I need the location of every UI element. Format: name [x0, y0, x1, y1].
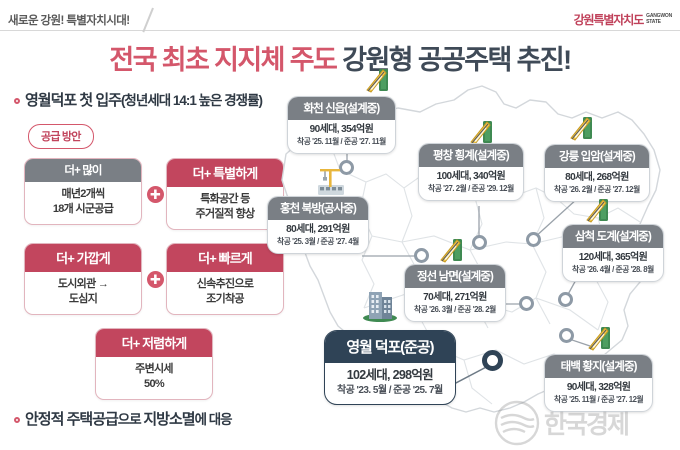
bullet-dot-icon [14, 98, 20, 104]
callout-pyeongchang-title: 평창 횡계(설계중) [419, 144, 523, 167]
supply-card-cheaper-body: 주변시세 50% [96, 357, 212, 399]
supply-card-closer: 더+ 가깝게 도시외관 → 도심지 [24, 243, 142, 315]
callout-hwacheon-body: 90세대, 354억원 착공 '25. 11월 / 준공 '27. 11월 [288, 120, 395, 153]
callout-yeongwol-title: 영월 덕포(준공) [325, 331, 455, 363]
callout-yeongwol[interactable]: 영월 덕포(준공) 102세대, 298억원 착공 '23. 5월 / 준공 '… [324, 330, 456, 405]
supply-card-closer-line1: 도시외관 → [27, 277, 139, 292]
callout-hwacheon[interactable]: 화천 신읍(설계중) 90세대, 354억원 착공 '25. 11월 / 준공 … [287, 96, 396, 154]
design-ruler-icon [364, 66, 394, 96]
supply-card-more: 더+ 많이 매년2개씩 18개 시군공급 [24, 158, 142, 225]
supply-card-faster-line2: 조기착공 [169, 292, 281, 307]
map-marker-taebaek[interactable] [559, 328, 574, 343]
closing-normal-a: 으로 [118, 412, 144, 427]
callout-yeongwol-units: 102세대, 298억원 [337, 367, 443, 383]
supply-card-faster-body: 신속추진으로 조기착공 [167, 272, 283, 314]
supply-card-cheaper: 더+ 저렴하게 주변시세 50% [95, 328, 213, 400]
header-tagline: 새로운 강원! 특별자치시대! [8, 12, 129, 28]
callout-gangneung-title: 강릉 입암(설계중) [545, 145, 649, 168]
callout-jeongseon-body: 70세대, 271억원 착공 '26. 3월 / 준공 '28. 2월 [405, 288, 505, 321]
supply-card-cheaper-line1: 주변시세 [98, 362, 210, 377]
closing-bullet-text: 안정적 주택공급으로 지방소멸에 대응 [25, 408, 232, 429]
design-ruler-icon [568, 114, 598, 144]
supply-card-faster-head: 더+ 빠르게 [167, 244, 283, 272]
map-marker-samcheok[interactable] [558, 292, 573, 307]
supply-card-more-body: 매년2개씩 18개 시군공급 [25, 182, 141, 224]
callout-taebaek-title: 태백 황지(설계중) [545, 355, 652, 378]
callout-samcheok-body: 120세대, 365억원 착공 '26. 4월 / 준공 '28. 8월 [563, 248, 663, 281]
supply-card-more-line1: 매년2개씩 [27, 187, 139, 202]
map-marker-gangneung[interactable] [526, 232, 541, 247]
closing-strong-a: 안정적 주택공급 [25, 411, 118, 428]
design-ruler-icon [584, 196, 614, 226]
lead-strong: 영월덕포 첫 입주 [25, 92, 121, 109]
callout-taebaek-units: 90세대, 328억원 [554, 381, 643, 394]
callout-hongcheon-title: 홍천 북방(공사중) [268, 197, 368, 220]
callout-gangneung-units: 80세대, 268억원 [554, 171, 640, 184]
supply-card-more-head: 더+ 많이 [25, 159, 141, 182]
design-ruler-icon [438, 236, 468, 266]
logo-english-line2: STATE [646, 19, 661, 25]
callout-yeongwol-body: 102세대, 298억원 착공 '23. 5월 / 준공 '25. 7월 [325, 363, 455, 404]
callout-taebaek[interactable]: 태백 황지(설계중) 90세대, 328억원 착공 '25. 11월 / 준공 … [544, 354, 653, 412]
supply-card-closer-body: 도시외관 → 도심지 [25, 272, 141, 314]
supply-card-more-line2: 18개 시군공급 [27, 202, 139, 217]
callout-pyeongchang-body: 100세대, 340억원 착공 '27. 2월 / 준공 '29. 12월 [419, 167, 523, 200]
supply-card-cheaper-head: 더+ 저렴하게 [96, 329, 212, 357]
supply-card-closer-head: 더+ 가깝게 [25, 244, 141, 272]
callout-pyeongchang-schedule: 착공 '27. 2월 / 준공 '29. 12월 [428, 184, 514, 195]
callout-hongcheon-schedule: 착공 '25. 3월 / 준공 '27. 4월 [277, 237, 359, 248]
map-marker-jeongseon[interactable] [519, 296, 534, 311]
supply-card-cheaper-line2: 50% [98, 377, 210, 392]
callout-gangneung[interactable]: 강릉 입암(설계중) 80세대, 268억원 착공 '26. 2월 / 준공 '… [544, 144, 650, 202]
lead-bullet-line: 영월덕포 첫 입주(청년세대 14:1 높은 경쟁률) [14, 89, 262, 110]
page-title-highlight: 전국 최초 지지체 주도 [109, 45, 336, 75]
callout-hongcheon-body: 80세대, 291억원 착공 '25. 3월 / 준공 '27. 4월 [268, 220, 368, 253]
plus-icon-row1: ✚ [147, 186, 164, 203]
crane-icon [316, 166, 346, 196]
lead-bullet-text: 영월덕포 첫 입주(청년세대 14:1 높은 경쟁률) [25, 89, 262, 110]
callout-pyeongchang-units: 100세대, 340억원 [428, 170, 514, 183]
map-marker-hongcheon[interactable] [414, 248, 429, 263]
building-icon [360, 283, 400, 323]
page-title: 전국 최초 지지체 주도 강원형 공공주택 추진! [0, 38, 680, 77]
supply-card-faster: 더+ 빠르게 신속추진으로 조기착공 [166, 243, 284, 315]
supply-card-special-body: 특화공간 등 주거질적 향상 [167, 187, 283, 229]
header-divider [0, 30, 680, 31]
callout-jeongseon[interactable]: 정선 남면(설계중) 70세대, 271억원 착공 '26. 3월 / 준공 '… [404, 264, 506, 322]
gangwon-map: 화천 신읍(설계중) 90세대, 354억원 착공 '25. 11월 / 준공 … [268, 78, 680, 450]
callout-samcheok-units: 120세대, 365억원 [572, 251, 654, 264]
callout-taebaek-body: 90세대, 328억원 착공 '25. 11월 / 준공 '27. 12월 [545, 378, 652, 411]
plus-icon-row2: ✚ [147, 271, 164, 288]
supply-card-special-head: 더+ 특별하게 [167, 159, 283, 187]
gangwon-logo: 강원특별자치도 GANGWON STATE [574, 11, 672, 28]
callout-hwacheon-units: 90세대, 354억원 [297, 123, 386, 136]
infographic-page: 새로운 강원! 특별자치시대! 강원특별자치도 GANGWON STATE 전국… [0, 0, 680, 450]
callout-hongcheon[interactable]: 홍천 북방(공사중) 80세대, 291억원 착공 '25. 3월 / 준공 '… [267, 196, 369, 254]
callout-hwacheon-title: 화천 신읍(설계중) [288, 97, 395, 120]
closing-normal-b: 에 대응 [195, 412, 232, 427]
logo-english-text: GANGWON STATE [646, 14, 672, 26]
callout-taebaek-schedule: 착공 '25. 11월 / 준공 '27. 12월 [554, 395, 643, 406]
callout-yeongwol-schedule: 착공 '23. 5월 / 준공 '25. 7월 [337, 384, 443, 398]
connector-line-pyeongchang [476, 206, 482, 238]
callout-hwacheon-schedule: 착공 '25. 11월 / 준공 '27. 11월 [297, 137, 386, 148]
callout-jeongseon-title: 정선 남면(설계중) [405, 265, 505, 288]
supply-card-closer-line2: 도심지 [27, 292, 139, 307]
closing-bullet-line: 안정적 주택공급으로 지방소멸에 대응 [14, 408, 232, 429]
connector-line-hongcheon [362, 253, 420, 259]
bullet-dot-icon [14, 417, 20, 423]
supply-method-chip: 공급 방안 [28, 124, 94, 149]
supply-card-special-line2: 주거질적 향상 [169, 207, 281, 222]
supply-card-special-line1: 특화공간 등 [169, 192, 281, 207]
header-slash-decoration [142, 8, 154, 33]
supply-card-faster-line1: 신속추진으로 [169, 277, 281, 292]
logo-korean-text: 강원특별자치도 [574, 11, 644, 28]
lead-normal: (청년세대 14:1 높은 경쟁률) [121, 93, 262, 108]
callout-gangneung-schedule: 착공 '26. 2월 / 준공 '27. 12월 [554, 185, 640, 196]
callout-pyeongchang[interactable]: 평창 횡계(설계중) 100세대, 340억원 착공 '27. 2월 / 준공 … [418, 143, 524, 201]
map-marker-yeongwol[interactable] [482, 350, 503, 371]
callout-samcheok-schedule: 착공 '26. 4월 / 준공 '28. 8월 [572, 265, 654, 276]
callout-jeongseon-schedule: 착공 '26. 3월 / 준공 '28. 2월 [414, 305, 496, 316]
map-marker-pyeongchang[interactable] [472, 235, 487, 250]
callout-samcheok-title: 삼척 도계(설계중) [563, 225, 663, 248]
closing-strong-b: 지방소멸 [143, 411, 194, 428]
callout-jeongseon-units: 70세대, 271억원 [414, 291, 496, 304]
callout-samcheok[interactable]: 삼척 도계(설계중) 120세대, 365억원 착공 '26. 4월 / 준공 … [562, 224, 664, 282]
callout-hongcheon-units: 80세대, 291억원 [277, 223, 359, 236]
